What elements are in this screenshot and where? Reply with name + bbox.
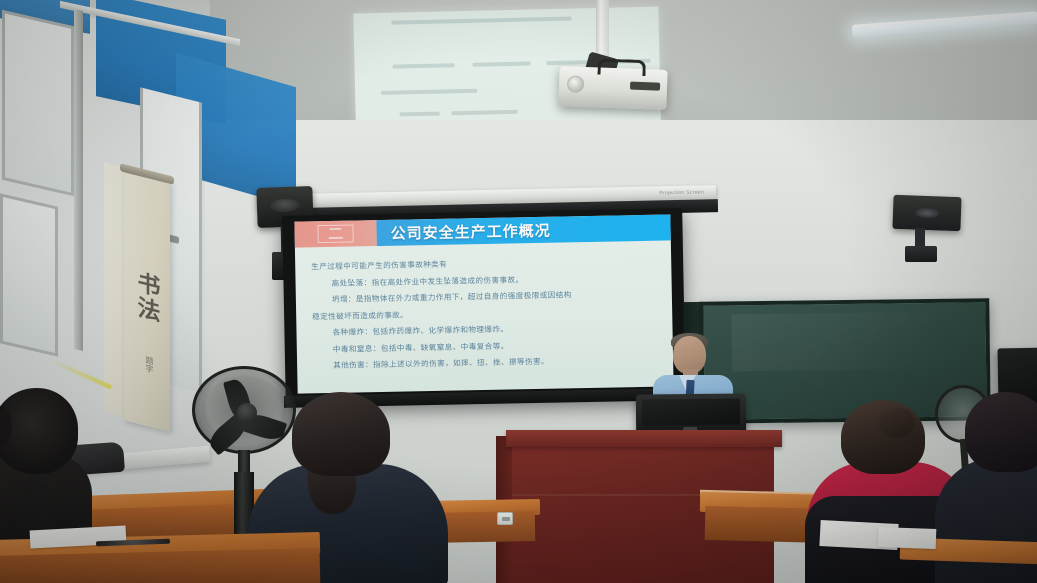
student-hair (292, 392, 390, 476)
slide-body: 生产过程中可能产生的伤害事故种类有 高处坠落：指在高处作业中发生坠落造成的伤害事… (295, 242, 673, 375)
slide-title-band: 公司安全生产工作概况 (376, 214, 670, 246)
speaker-cone (270, 198, 300, 212)
notebook-page (878, 527, 937, 549)
scroll-signature: 题字 (138, 354, 154, 408)
speaker-bracket-box (905, 246, 937, 262)
projector-lens (567, 75, 585, 93)
podium-top-ledge (506, 430, 782, 447)
projected-slide: 二 公司安全生产工作概况 生产过程中可能产生的伤害事故种类有 高处坠落：指在高处… (294, 214, 673, 393)
ceiling-projector (558, 66, 667, 110)
blackboard-sheen (732, 312, 930, 371)
wall-power-socket[interactable] (497, 512, 513, 525)
classroom-window (0, 193, 58, 356)
projector-bracket (597, 58, 646, 76)
classroom-window (2, 10, 74, 197)
slide-title: 公司安全生产工作概况 (390, 219, 550, 243)
scroll-characters: 书法 (136, 269, 158, 346)
wall-speaker-right (892, 195, 961, 231)
window-frame (74, 9, 83, 351)
speaker-cone (915, 208, 939, 219)
student-hair (0, 388, 78, 474)
slide-section-number: 二 (318, 225, 353, 244)
student-torso (935, 458, 1037, 583)
student-hair (841, 400, 925, 474)
screen-housing-label: Projection Screen (659, 189, 704, 196)
socket-slots (502, 517, 510, 521)
monitor-screen (642, 398, 740, 425)
student-hair (965, 392, 1037, 472)
slide-section-number-box: 二 (294, 220, 376, 248)
hanging-calligraphy-scroll: 书法 题字 (124, 170, 170, 431)
student-hair-bun (879, 408, 915, 438)
classroom-photo-scene: 公司安全生产工作概况 书法 题字 Projection Screen (0, 0, 1037, 583)
projector-ports (630, 82, 660, 91)
